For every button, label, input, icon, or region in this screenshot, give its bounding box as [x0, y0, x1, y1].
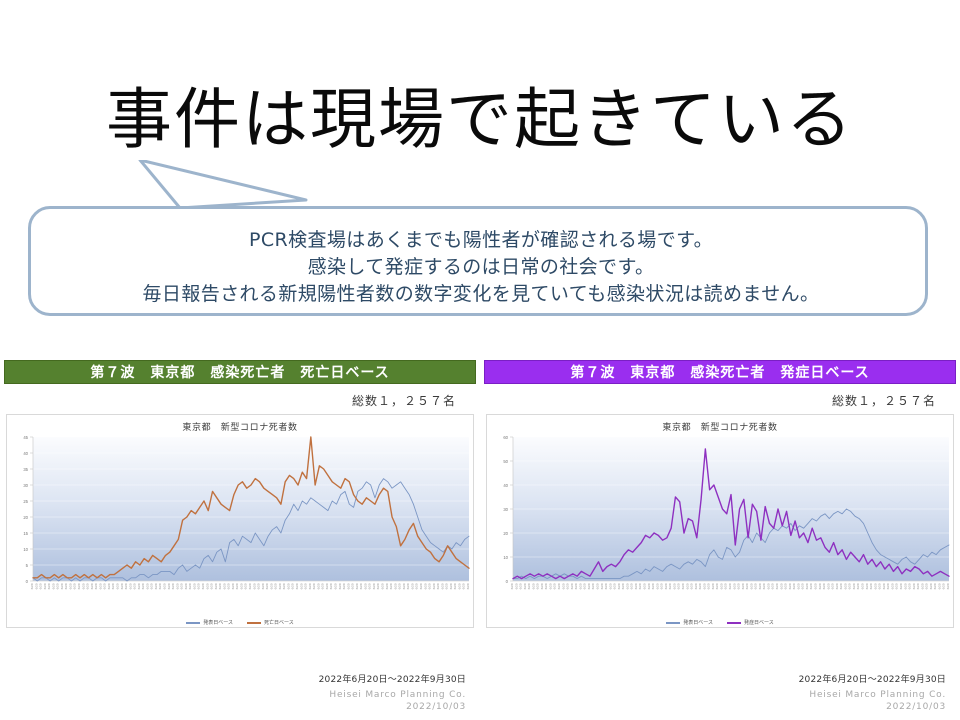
legend-swatch-death-left	[247, 622, 261, 624]
chart-right-legend: 発表日ベース 発症日ベース	[487, 619, 953, 626]
svg-text:20: 20	[503, 531, 508, 536]
svg-text:30: 30	[23, 483, 28, 488]
svg-text:40: 40	[23, 451, 28, 456]
footer-right-range: 2022年6月20日〜2022年9月30日	[799, 672, 946, 685]
page-title: 事件は現場で起きている	[0, 88, 960, 154]
speech-bubble-tail-icon	[128, 160, 308, 212]
bubble-line-2: 感染して発症するのは日常の社会です。	[31, 254, 931, 281]
footer-right: 2022年6月20日〜2022年9月30日 Heisei Marco Plann…	[799, 672, 946, 712]
svg-text:50: 50	[503, 459, 508, 464]
legend-label-onset-right: 発症日ベース	[744, 619, 774, 626]
svg-text:0: 0	[26, 579, 29, 584]
speech-bubble: PCR検査場はあくまでも陽性者が確認される場です。 感染して発症するのは日常の社…	[28, 196, 932, 322]
chart-left-title: 東京都 新型コロナ死者数	[7, 420, 473, 433]
footer-right-company: Heisei Marco Planning Co.	[799, 690, 946, 700]
svg-text:35: 35	[23, 467, 28, 472]
chart-right-title: 東京都 新型コロナ死者数	[487, 420, 953, 433]
chart-right-plot: 01020304050606/206/206/206/206/206/206/2…	[487, 433, 955, 611]
bubble-line-1: PCR検査場はあくまでも陽性者が確認される場です。	[31, 227, 931, 254]
chart-card-left: 東京都 新型コロナ死者数 0510152025303540456/206/206…	[6, 414, 474, 628]
legend-label-announce-right: 発表日ベース	[683, 619, 713, 626]
legend-swatch-announce-right	[666, 622, 680, 624]
legend-label-announce-left: 発表日ベース	[203, 619, 233, 626]
speech-bubble-body: PCR検査場はあくまでも陽性者が確認される場です。 感染して発症するのは日常の社…	[28, 206, 928, 316]
svg-text:15: 15	[23, 531, 28, 536]
footer-right-date: 2022/10/03	[799, 702, 946, 712]
speech-bubble-text: PCR検査場はあくまでも陽性者が確認される場です。 感染して発症するのは日常の社…	[31, 227, 931, 308]
svg-text:6/20: 6/20	[946, 583, 950, 589]
panel-death-date: 第７波 東京都 感染死亡者 死亡日ベース 総数１，２５７名 東京都 新型コロナ死…	[0, 356, 480, 720]
bubble-line-3: 毎日報告される新規陽性者数の数字変化を見ていても感染状況は読めません。	[31, 281, 931, 308]
legend-item-death-left: 死亡日ベース	[247, 619, 294, 626]
footer-left-range: 2022年6月20日〜2022年9月30日	[319, 672, 466, 685]
svg-text:5: 5	[26, 563, 29, 568]
legend-item-announce-left: 発表日ベース	[186, 619, 233, 626]
panel-left-total: 総数１，２５７名	[352, 392, 456, 409]
legend-swatch-announce-left	[186, 622, 200, 624]
svg-text:0: 0	[506, 579, 509, 584]
panel-right-total: 総数１，２５７名	[832, 392, 936, 409]
svg-text:60: 60	[503, 435, 508, 440]
footer-left-date: 2022/10/03	[319, 702, 466, 712]
panel-onset-date: 第７波 東京都 感染死亡者 発症日ベース 総数１，２５７名 東京都 新型コロナ死…	[480, 356, 960, 720]
svg-text:6/20: 6/20	[466, 583, 470, 589]
svg-text:30: 30	[503, 507, 508, 512]
svg-text:20: 20	[23, 515, 28, 520]
svg-text:40: 40	[503, 483, 508, 488]
panel-left-header: 第７波 東京都 感染死亡者 死亡日ベース	[4, 360, 476, 384]
footer-left-company: Heisei Marco Planning Co.	[319, 690, 466, 700]
svg-text:45: 45	[23, 435, 28, 440]
svg-text:25: 25	[23, 499, 28, 504]
chart-left-plot: 0510152025303540456/206/206/206/206/206/…	[7, 433, 475, 611]
footer-left: 2022年6月20日〜2022年9月30日 Heisei Marco Plann…	[319, 672, 466, 712]
panel-right-header: 第７波 東京都 感染死亡者 発症日ベース	[484, 360, 956, 384]
legend-item-onset-right: 発症日ベース	[727, 619, 774, 626]
legend-label-death-left: 死亡日ベース	[264, 619, 294, 626]
svg-text:10: 10	[503, 555, 508, 560]
legend-swatch-onset-right	[727, 622, 741, 624]
legend-item-announce-right: 発表日ベース	[666, 619, 713, 626]
chart-left-legend: 発表日ベース 死亡日ベース	[7, 619, 473, 626]
svg-text:10: 10	[23, 547, 28, 552]
chart-card-right: 東京都 新型コロナ死者数 01020304050606/206/206/206/…	[486, 414, 954, 628]
